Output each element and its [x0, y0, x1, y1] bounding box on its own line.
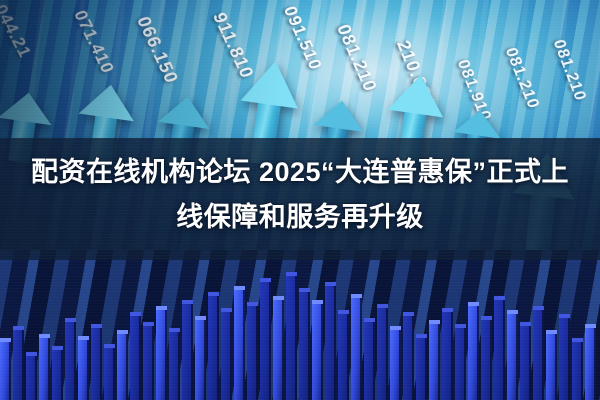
chart-bar: [559, 318, 570, 400]
chart-bar-top: [234, 286, 245, 290]
chart-bar: [351, 298, 362, 400]
chart-bar-top: [247, 302, 258, 306]
chart-bar-top: [585, 324, 596, 328]
chart-bar: [416, 338, 427, 400]
chart-bar-top: [403, 312, 414, 316]
page-title: 配资在线机构论坛 2025“大连普惠保”正式上 线保障和服务再升级: [0, 150, 600, 240]
chart-bar: [325, 286, 336, 400]
chart-bar-top: [104, 344, 115, 348]
chart-bar: [364, 322, 375, 400]
chart-bar-top: [468, 302, 479, 306]
chart-bar: [572, 342, 583, 400]
chart-bar-top: [143, 322, 154, 326]
chart-bar: [377, 308, 388, 400]
chart-bar: [26, 356, 37, 400]
chart-bar: [481, 320, 492, 400]
chart-bar-top: [377, 304, 388, 308]
chart-bar-top: [91, 324, 102, 328]
chart-bar: [520, 326, 531, 400]
headline-line-1: 配资在线机构论坛 2025“大连普惠保”正式上: [18, 150, 582, 195]
chart-bar: [39, 338, 50, 400]
chart-bar: [507, 314, 518, 400]
chart-bar: [65, 322, 76, 400]
chart-bar-top: [182, 300, 193, 304]
chart-bar: [533, 310, 544, 400]
chart-bar-top: [533, 306, 544, 310]
chart-bar: [247, 306, 258, 400]
chart-bar: [312, 304, 323, 400]
chart-bar: [455, 328, 466, 400]
chart-bar-top: [299, 288, 310, 292]
chart-bar-top: [455, 324, 466, 328]
chart-bar: [338, 314, 349, 400]
chart-bar: [234, 290, 245, 400]
chart-bar-top: [429, 320, 440, 324]
chart-bar: [286, 276, 297, 400]
chart-bar-top: [260, 278, 271, 282]
chart-bar: [130, 316, 141, 400]
chart-bar-top: [39, 334, 50, 338]
chart-bar-top: [325, 282, 336, 286]
chart-bar-top: [221, 308, 232, 312]
chart-bar: [104, 348, 115, 400]
chart-bar-top: [507, 310, 518, 314]
chart-bar: [156, 310, 167, 400]
chart-bar: [299, 292, 310, 400]
chart-bar-top: [364, 318, 375, 322]
chart-bar-top: [338, 310, 349, 314]
headline-line-2: 线保障和服务再升级: [18, 195, 582, 240]
chart-bar: [442, 312, 453, 400]
chart-bar-top: [351, 294, 362, 298]
chart-bar-top: [481, 316, 492, 320]
chart-bar: [143, 326, 154, 400]
chart-bar-top: [156, 306, 167, 310]
chart-bar-top: [0, 338, 11, 342]
chart-bar: [468, 306, 479, 400]
chart-bar-top: [65, 318, 76, 322]
chart-bar: [195, 320, 206, 400]
chart-bar-top: [117, 330, 128, 334]
chart-bar-top: [572, 338, 583, 342]
chart-bar-top: [195, 316, 206, 320]
chart-bar-top: [169, 328, 180, 332]
banner-image: 044.21071.410066.150911.810091.510081.21…: [0, 0, 600, 400]
chart-bar-top: [390, 326, 401, 330]
chart-bar: [91, 328, 102, 400]
chart-bar-top: [520, 322, 531, 326]
chart-bar: [182, 304, 193, 400]
chart-bar: [494, 300, 505, 400]
chart-bar-top: [546, 330, 557, 334]
bar-chart: [0, 250, 600, 400]
chart-bar: [260, 282, 271, 400]
chart-bar: [52, 350, 63, 400]
chart-bar: [169, 332, 180, 400]
chart-bar-top: [286, 272, 297, 276]
chart-bar-top: [130, 312, 141, 316]
chart-bar-top: [208, 292, 219, 296]
chart-bar: [273, 300, 284, 400]
chart-bar-top: [78, 336, 89, 340]
chart-bar: [221, 312, 232, 400]
chart-bar-top: [559, 314, 570, 318]
chart-bar: [403, 316, 414, 400]
chart-bar-top: [442, 308, 453, 312]
chart-bar: [208, 296, 219, 400]
chart-bar-top: [494, 296, 505, 300]
chart-bar: [78, 340, 89, 400]
chart-bar: [546, 334, 557, 400]
chart-bar-top: [13, 326, 24, 330]
chart-bar: [0, 342, 11, 400]
chart-bar: [117, 334, 128, 400]
chart-bar: [13, 330, 24, 400]
chart-bar-top: [26, 352, 37, 356]
chart-bar-top: [312, 300, 323, 304]
chart-bar-top: [52, 346, 63, 350]
chart-bar: [429, 324, 440, 400]
chart-bar-top: [416, 334, 427, 338]
chart-bar: [585, 328, 596, 400]
chart-bar: [390, 330, 401, 400]
chart-bar-top: [273, 296, 284, 300]
